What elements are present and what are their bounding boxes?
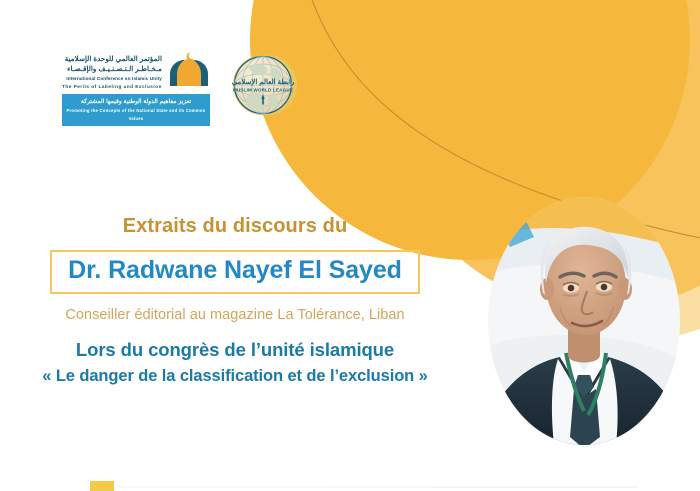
mosque-arch-icon [168, 52, 210, 86]
conference-arabic-line-2: مـخـاطـر الـتـصـنـيـف والإقـصـاء [62, 64, 162, 74]
international-conference-logo: المؤتمر العالمي للوحدة الإسلامية مـخـاطـ… [62, 52, 210, 126]
congress-line: Lors du congrès de l’unité islamique [0, 338, 470, 361]
conference-english-line-2: The Perils of Labeling and Exclusion [62, 83, 162, 91]
kicker-text: Extraits du discours du [0, 214, 470, 238]
conference-banner-arabic: تعزيز مفاهيم الدولة الوطنية وقيمها المشت… [66, 98, 206, 107]
conference-banner-english: Promoting the Concepts of the National S… [66, 107, 206, 121]
conference-english-line-1: International Conference on Islamic Unit… [62, 75, 162, 83]
muslim-world-league-logo: رابطة العالم الإسلامي MUSLIM WORLD LEAGU… [232, 52, 298, 118]
speaker-portrait [488, 197, 680, 445]
quote-line: « Le danger de la classification et de l… [0, 366, 470, 387]
speaker-role: Conseiller éditorial au magazine La Tolé… [0, 306, 470, 325]
bottom-divider [118, 486, 638, 488]
mwl-english-text: MUSLIM WORLD LEAGUE [233, 88, 293, 93]
speaker-name-box: Dr. Radwane Nayef El Sayed [50, 250, 420, 294]
speaker-name: Dr. Radwane Nayef El Sayed [68, 257, 402, 285]
conference-banner: تعزيز مفاهيم الدولة الوطنية وقيمها المشت… [62, 94, 210, 125]
mwl-arabic-text: رابطة العالم الإسلامي [232, 78, 295, 87]
conference-arabic-line-1: المؤتمر العالمي للوحدة الإسلامية [62, 54, 162, 64]
speech-content-block: Extraits du discours du Dr. Radwane Naye… [0, 214, 470, 387]
conference-logo-text: المؤتمر العالمي للوحدة الإسلامية مـخـاطـ… [62, 52, 162, 90]
logo-row: المؤتمر العالمي للوحدة الإسلامية مـخـاطـ… [62, 52, 298, 126]
